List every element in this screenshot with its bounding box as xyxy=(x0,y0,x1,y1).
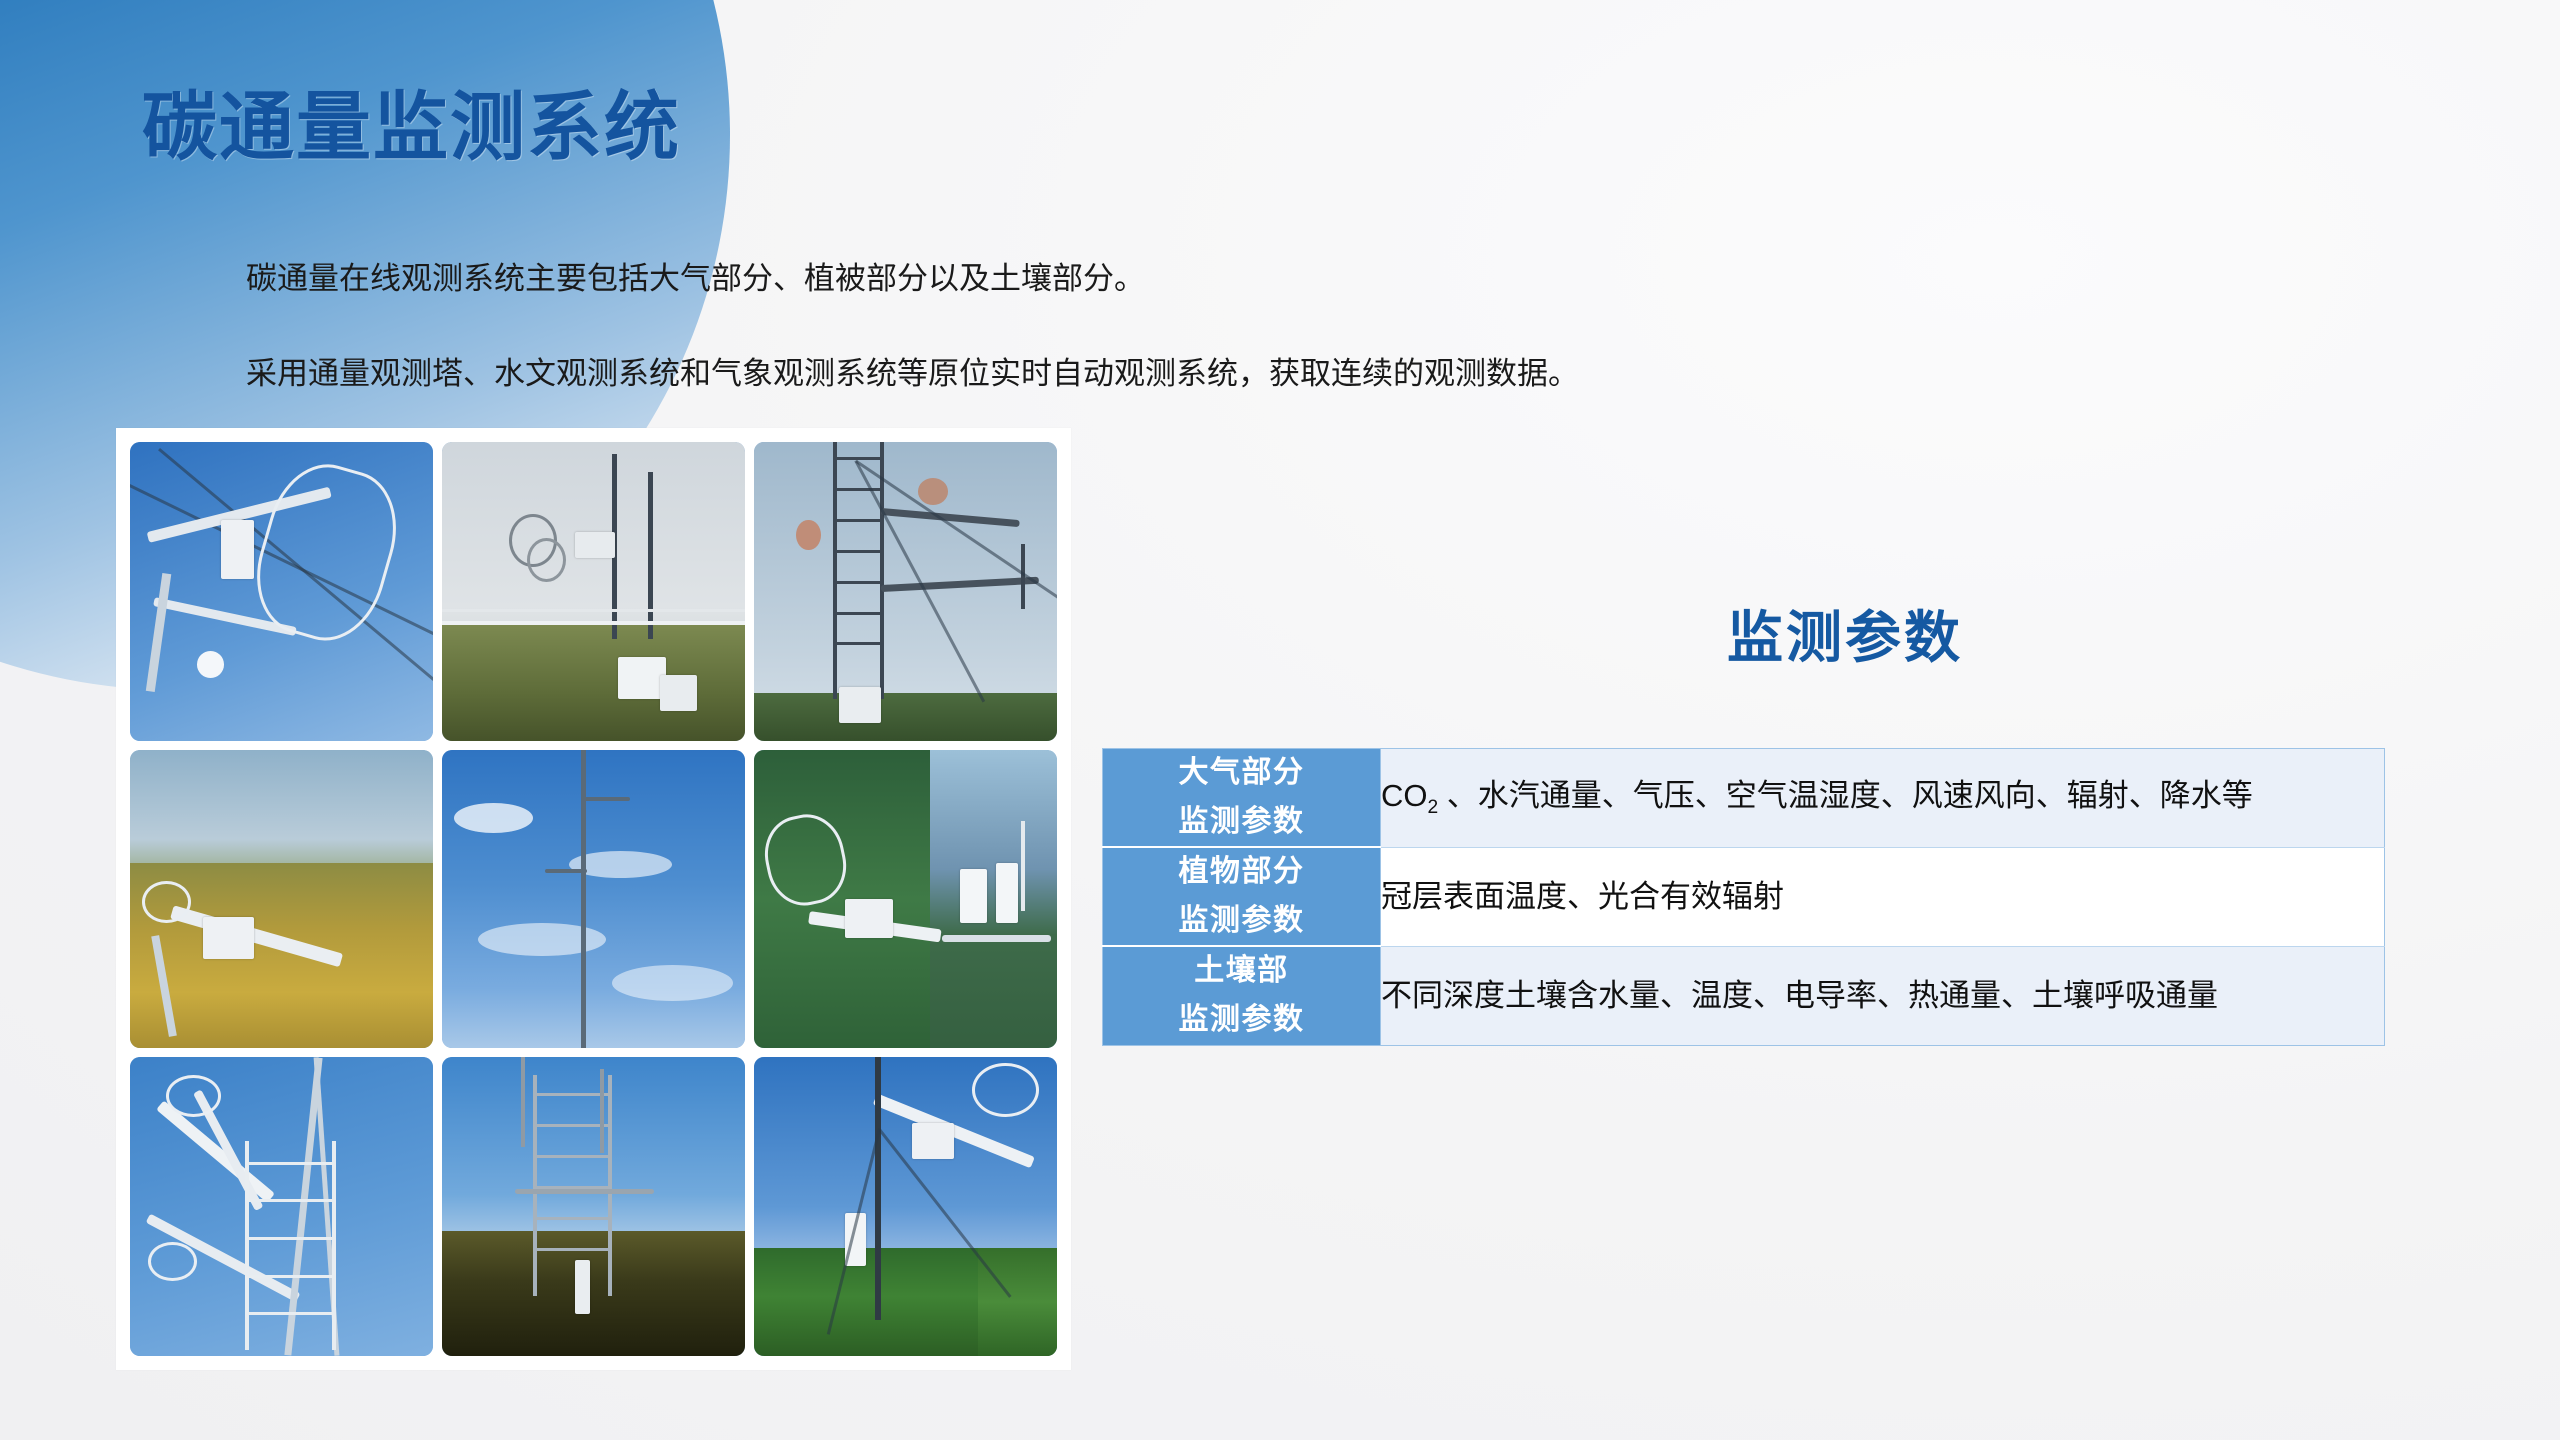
row-label-line-2: 监测参数 xyxy=(1103,996,1380,1045)
row-label-atmosphere: 大气部分 监测参数 xyxy=(1103,749,1381,848)
table-row-atmosphere: 大气部分 监测参数 CO2 、水汽通量、气压、空气温湿度、风速风向、辐射、降水等 xyxy=(1103,749,2385,848)
params-heading: 监测参数 xyxy=(1615,593,2075,674)
row-label-line-2: 监测参数 xyxy=(1103,897,1380,946)
table-row-soil: 土壤部 监测参数 不同深度土壤含水量、温度、电导率、热通量、土壤呼吸通量 xyxy=(1103,946,2385,1045)
intro-paragraph-1: 碳通量在线观测系统主要包括大气部分、植被部分以及土壤部分。 xyxy=(246,258,1579,300)
row-label-line-2: 监测参数 xyxy=(1103,798,1380,847)
row-label-soil: 土壤部 监测参数 xyxy=(1103,946,1381,1045)
row-value-soil: 不同深度土壤含水量、温度、电导率、热通量、土壤呼吸通量 xyxy=(1381,946,2385,1045)
photo-open-path-gas-analyser-blue-sky xyxy=(130,1057,433,1356)
photo-lattice-flux-tower-with-sensors xyxy=(754,442,1057,741)
collage-grid xyxy=(130,442,1057,1356)
photo-flux-mast-over-green-crop-field xyxy=(754,1057,1057,1356)
row-value-soil-text: 不同深度土壤含水量、温度、电导率、热通量、土壤呼吸通量 xyxy=(1381,973,2466,1019)
photo-radiation-sensor-over-forest-and-lake xyxy=(754,750,1057,1049)
photo-flux-tower-over-autumn-larch-forest xyxy=(130,750,433,1049)
photo-tall-mast-against-blue-sky-clouds xyxy=(442,750,745,1049)
table-row-vegetation: 植物部分 监测参数 冠层表面温度、光合有效辐射 xyxy=(1103,847,2385,946)
photo-flux-tower-sonic-anemometer-blue-sky xyxy=(130,442,433,741)
monitoring-parameters-table: 大气部分 监测参数 CO2 、水汽通量、气压、空气温湿度、风速风向、辐射、降水等… xyxy=(1102,748,2385,1046)
intro-paragraph-2: 采用通量观测塔、水文观测系统和气象观测系统等原位实时自动观测系统，获取连续的观测… xyxy=(246,353,1579,395)
row-value-atmosphere: CO2 、水汽通量、气压、空气温湿度、风速风向、辐射、降水等 xyxy=(1381,749,2385,848)
photo-scaffold-tower-in-reed-wetland xyxy=(442,1057,745,1356)
intro-text-block: 碳通量在线观测系统主要包括大气部分、植被部分以及土壤部分。 采用通量观测塔、水文… xyxy=(246,258,1579,448)
photo-collage xyxy=(116,428,1071,1370)
photo-meteorological-station-overcast-sky xyxy=(442,442,745,741)
row-label-line-1: 大气部分 xyxy=(1103,749,1380,798)
row-value-vegetation: 冠层表面温度、光合有效辐射 xyxy=(1381,847,2385,946)
row-label-line-1: 植物部分 xyxy=(1103,848,1380,897)
row-value-vegetation-text: 冠层表面温度、光合有效辐射 xyxy=(1381,874,2476,920)
row-label-vegetation: 植物部分 监测参数 xyxy=(1103,847,1381,946)
row-value-atmosphere-text: CO2 、水汽通量、气压、空气温湿度、风速风向、辐射、降水等 xyxy=(1381,773,2476,823)
page-title: 碳通量监测系统 xyxy=(142,88,681,167)
row-label-line-1: 土壤部 xyxy=(1103,947,1380,996)
